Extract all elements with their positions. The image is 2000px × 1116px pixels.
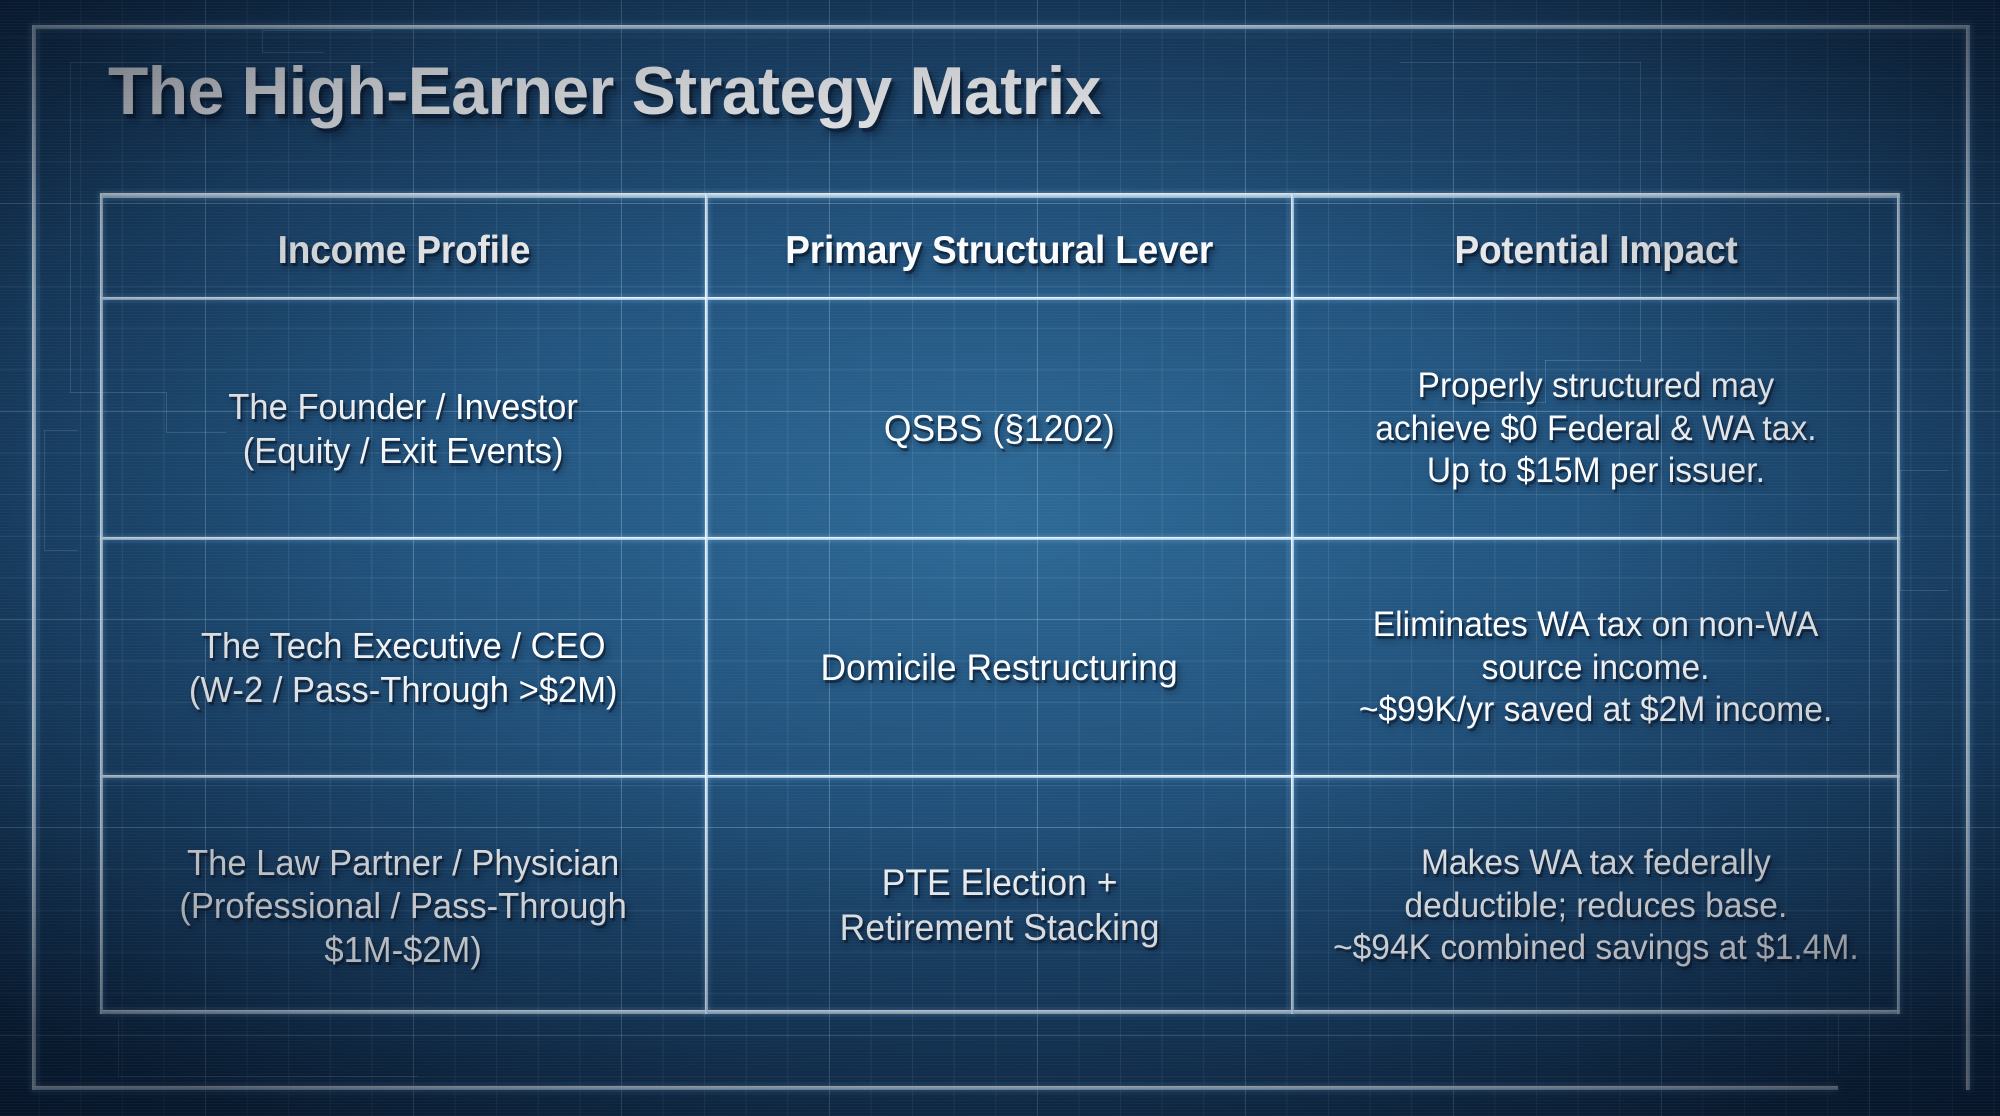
column-header-label: Primary Structural Lever [786, 229, 1214, 273]
slide-canvas: The High-Earner Strategy Matrix Income P… [0, 0, 2000, 1116]
cell-income-profile: The Law Partner / Physician (Professiona… [100, 787, 707, 1025]
cell-structural-lever: PTE Election + Retirement Stacking [707, 787, 1292, 1025]
structural-lever-text: Domicile Restructuring [821, 646, 1178, 691]
cell-potential-impact: Makes WA tax federally deductible; reduc… [1292, 787, 1900, 1025]
cell-structural-lever: Domicile Restructuring [707, 549, 1292, 787]
page-title: The High-Earner Strategy Matrix [108, 52, 1101, 130]
structural-lever-text: PTE Election + Retirement Stacking [840, 861, 1160, 951]
column-header-label: Potential Impact [1454, 229, 1737, 273]
column-header-income-profile: Income Profile [100, 193, 707, 309]
column-header-primary-structural-lever: Primary Structural Lever [707, 193, 1292, 309]
cell-potential-impact: Eliminates WA tax on non-WA source incom… [1292, 549, 1900, 787]
income-profile-text: The Founder / Investor (Equity / Exit Ev… [229, 385, 579, 472]
column-header-potential-impact: Potential Impact [1292, 193, 1900, 309]
income-profile-text: The Tech Executive / CEO (W-2 / Pass-Thr… [189, 624, 618, 711]
cell-income-profile: The Tech Executive / CEO (W-2 / Pass-Thr… [100, 549, 707, 787]
table-row: The Tech Executive / CEO (W-2 / Pass-Thr… [100, 549, 1900, 787]
table-header-row: Income Profile Primary Structural Lever … [100, 193, 1900, 309]
structural-lever-text: QSBS (§1202) [884, 407, 1115, 452]
potential-impact-text: Makes WA tax federally deductible; reduc… [1333, 842, 1859, 970]
table-row: The Founder / Investor (Equity / Exit Ev… [100, 309, 1900, 549]
cell-potential-impact: Properly structured may achieve $0 Feder… [1292, 309, 1900, 549]
income-profile-text: The Law Partner / Physician (Professiona… [180, 841, 628, 972]
potential-impact-text: Eliminates WA tax on non-WA source incom… [1359, 604, 1832, 732]
column-header-label: Income Profile [277, 229, 530, 273]
cell-income-profile: The Founder / Investor (Equity / Exit Ev… [100, 309, 707, 549]
cell-structural-lever: QSBS (§1202) [707, 309, 1292, 549]
potential-impact-text: Properly structured may achieve $0 Feder… [1375, 365, 1816, 493]
table-row: The Law Partner / Physician (Professiona… [100, 787, 1900, 1025]
strategy-matrix-table: Income Profile Primary Structural Lever … [100, 193, 1900, 1025]
